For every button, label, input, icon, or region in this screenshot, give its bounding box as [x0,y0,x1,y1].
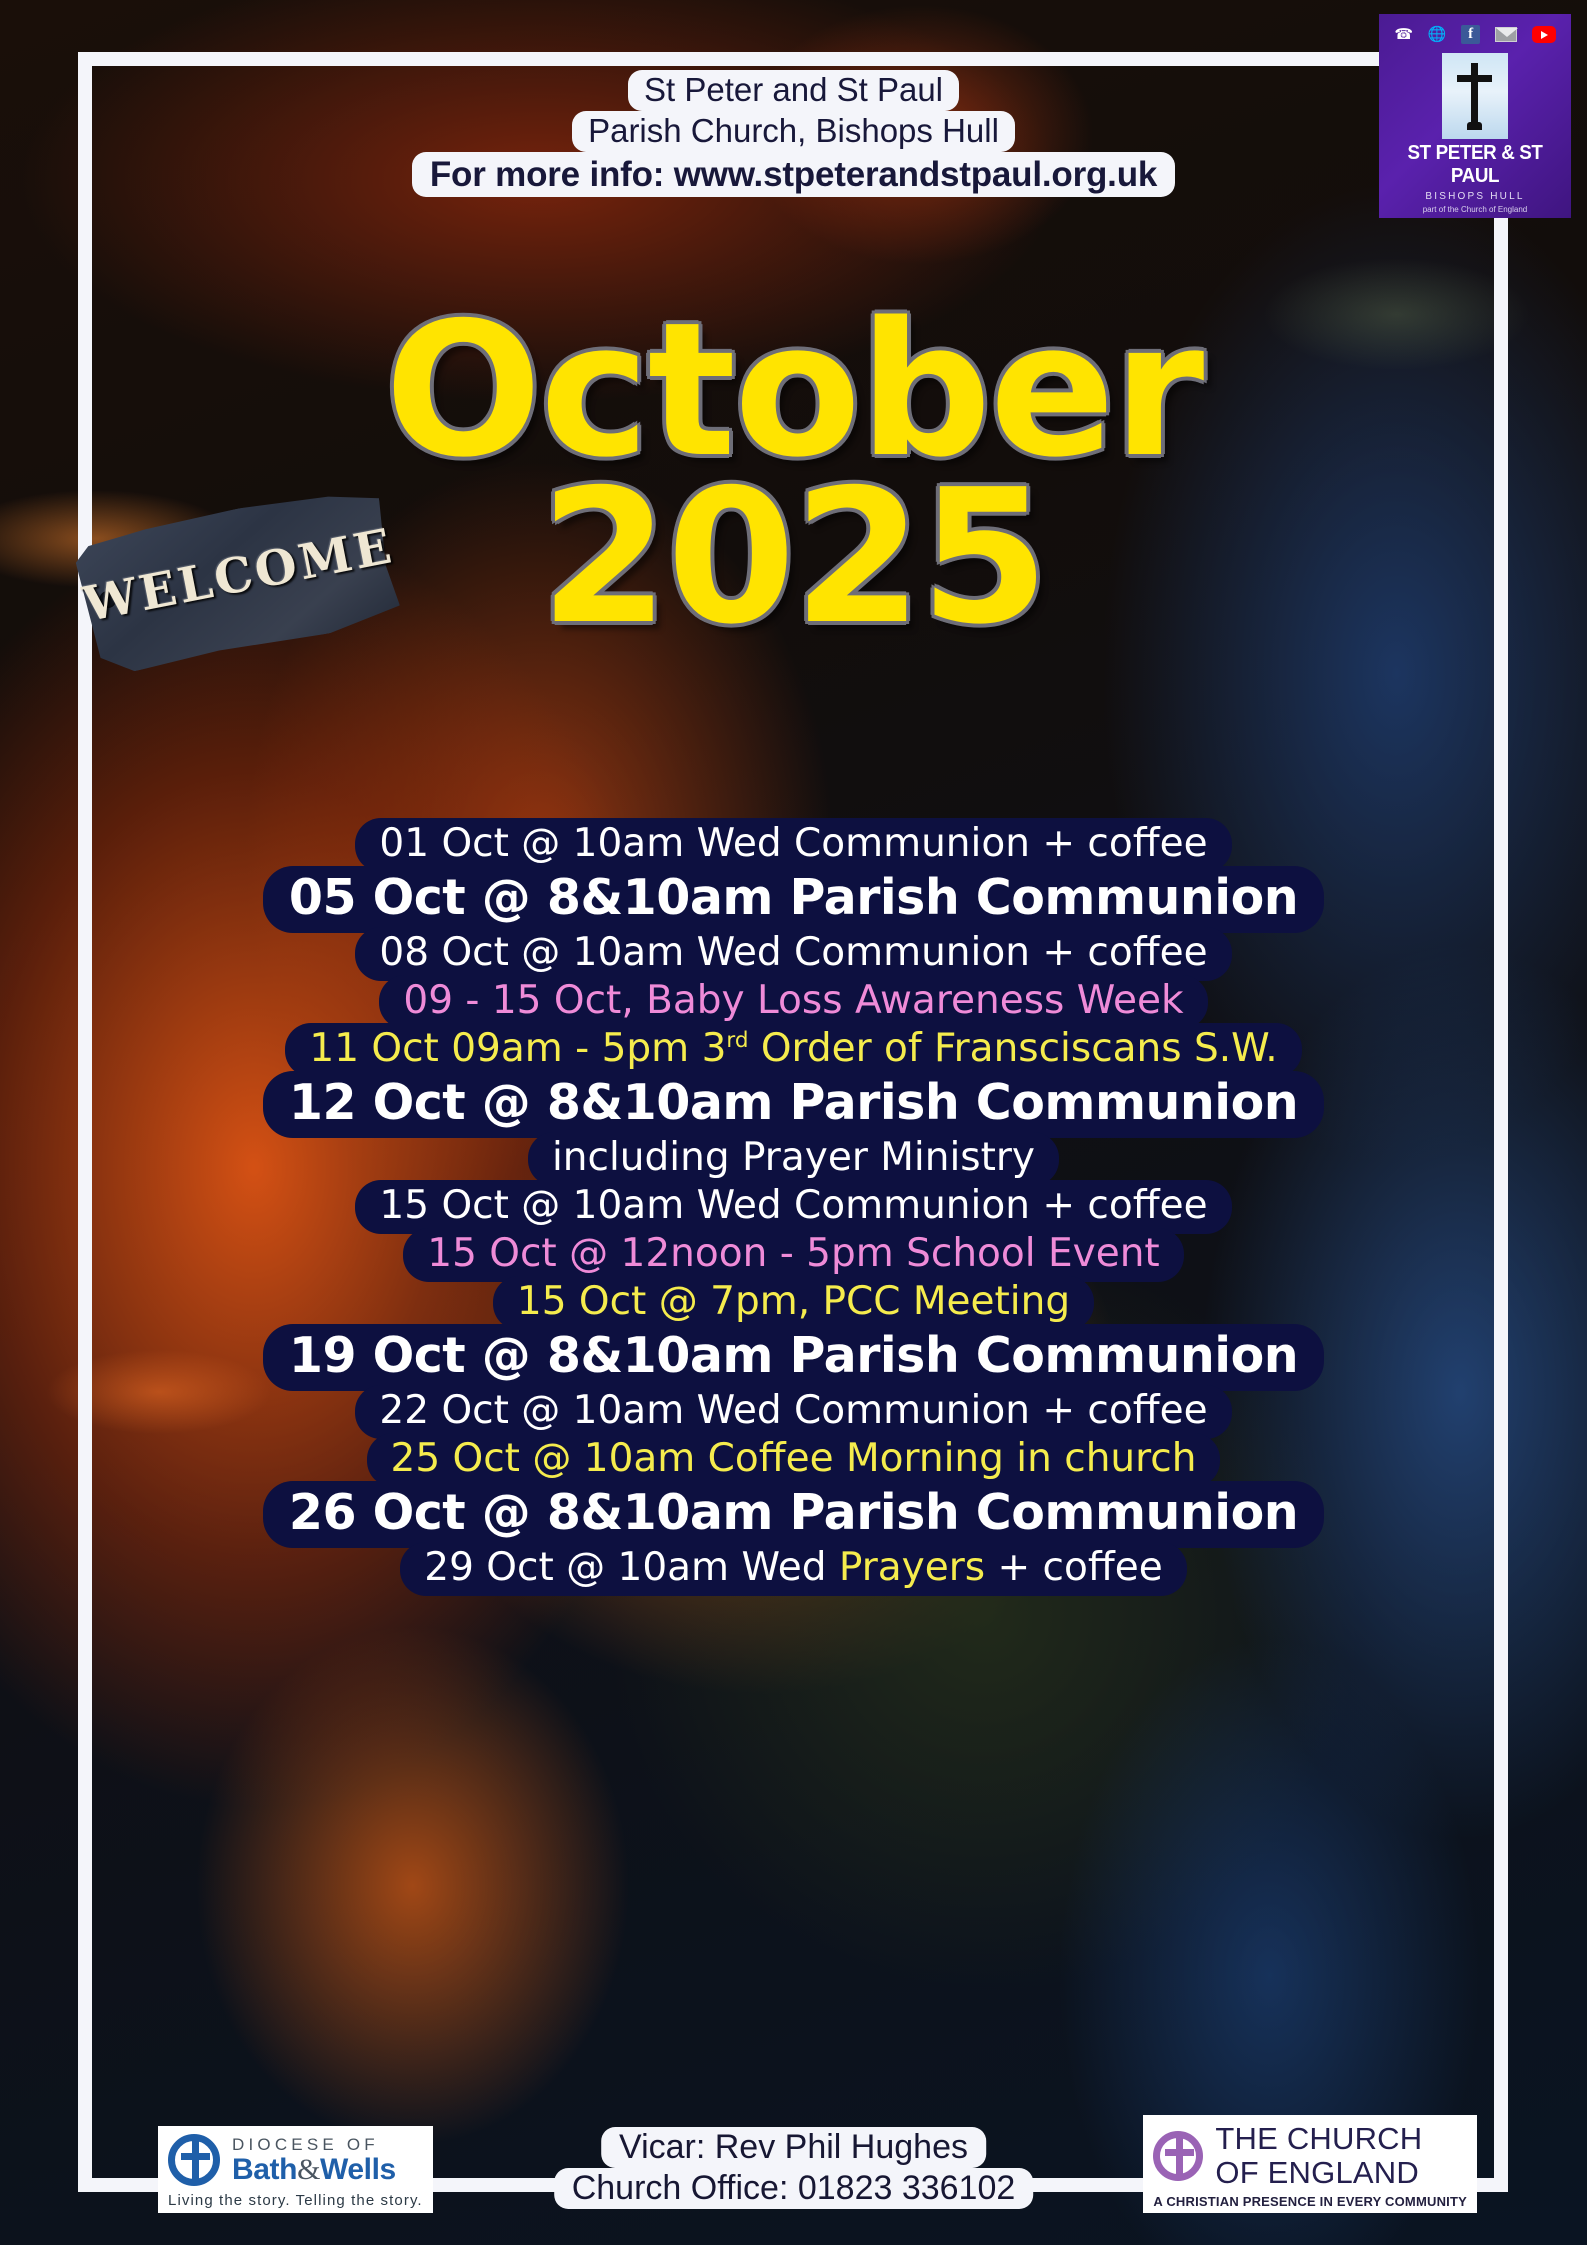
logo-social-icon-row: ☎ 🌐 f [1379,20,1571,48]
event-pill: 26 Oct @ 8&10am Parish Communion [263,1481,1324,1548]
event-text: 15 Oct @ 10am Wed Communion + coffee [379,1186,1207,1225]
event-pill: 25 Oct @ 10am Coffee Morning in church [367,1433,1221,1487]
event-text: 19 Oct @ 8&10am Parish Communion [289,1331,1298,1380]
coe-line1: THE CHURCH [1215,2123,1422,2154]
ordinal-suffix: rd [726,1028,748,1053]
parish-logo-card[interactable]: ☎ 🌐 f ST PETER & ST PAUL BISHOPS HULL pa… [1379,14,1571,218]
event-row: 08 Oct @ 10am Wed Communion + coffee [78,927,1509,981]
event-row: 29 Oct @ 10am Wed Prayers + coffee [78,1542,1509,1596]
event-row: 22 Oct @ 10am Wed Communion + coffee [78,1385,1509,1439]
event-row: 15 Oct @ 10am Wed Communion + coffee [78,1180,1509,1234]
event-row: 05 Oct @ 8&10am Parish Communion [78,866,1509,933]
event-row: 01 Oct @ 10am Wed Communion + coffee [78,818,1509,872]
diocese-bath-and-wells-logo[interactable]: DIOCESE OF Bath&Wells Living the story. … [158,2126,433,2213]
event-row: 25 Oct @ 10am Coffee Morning in church [78,1433,1509,1487]
website-info-line[interactable]: For more info: www.stpeterandstpaul.org.… [412,152,1175,197]
logo-title: ST PETER & ST PAUL [1385,142,1565,188]
church-name-line2: Parish Church, Bishops Hull [572,111,1015,152]
church-office-line: Church Office: 01823 336102 [554,2168,1034,2209]
youtube-icon[interactable] [1532,26,1556,43]
coe-line2: OF ENGLAND [1215,2157,1422,2188]
event-text: 15 Oct @ 7pm, PCC Meeting [517,1282,1070,1321]
poster-footer: DIOCESE OF Bath&Wells Living the story. … [0,2055,1587,2245]
contact-block: Vicar: Rev Phil Hughes Church Office: 01… [554,2127,1034,2209]
event-pill: 05 Oct @ 8&10am Parish Communion [263,866,1324,933]
event-row: 15 Oct @ 7pm, PCC Meeting [78,1276,1509,1330]
event-pill: including Prayer Ministry [528,1132,1059,1186]
event-row: 09 - 15 Oct, Baby Loss Awareness Week [78,975,1509,1029]
event-text: 12 Oct @ 8&10am Parish Communion [289,1078,1298,1127]
event-text: 05 Oct @ 8&10am Parish Communion [289,873,1298,922]
logo-subtitle: BISHOPS HULL [1379,191,1571,202]
diocese-line2: Bath&Wells [232,2155,396,2185]
event-text: 01 Oct @ 10am Wed Communion + coffee [379,824,1207,863]
event-text: 08 Oct @ 10am Wed Communion + coffee [379,933,1207,972]
event-row: 12 Oct @ 8&10am Parish Communion [78,1071,1509,1138]
event-row: including Prayer Ministry [78,1132,1509,1186]
highlighted-word: Prayers [839,1545,985,1590]
diocese-line1: DIOCESE OF [232,2136,396,2153]
event-pill: 12 Oct @ 8&10am Parish Communion [263,1071,1324,1138]
event-pill: 15 Oct @ 7pm, PCC Meeting [493,1276,1094,1330]
event-row: 15 Oct @ 12noon - 5pm School Event [78,1228,1509,1282]
phone-icon[interactable]: ☎ [1394,27,1413,42]
logo-tagline: part of the Church of England [1379,205,1571,214]
event-text: 11 Oct 09am - 5pm 3rd Order of Franscisc… [309,1029,1277,1068]
event-text: 25 Oct @ 10am Coffee Morning in church [391,1439,1197,1478]
globe-icon[interactable]: 🌐 [1428,27,1447,42]
cross-photo-icon [1442,53,1508,139]
event-row: 11 Oct 09am - 5pm 3rd Order of Franscisc… [78,1023,1509,1077]
event-text: 15 Oct @ 12noon - 5pm School Event [427,1234,1159,1273]
diocese-wells: Wells [320,2153,396,2186]
church-of-england-cross-icon [1153,2131,1203,2181]
event-list: 01 Oct @ 10am Wed Communion + coffee05 O… [78,818,1509,1596]
event-text: 26 Oct @ 8&10am Parish Communion [289,1488,1298,1537]
event-pill: 19 Oct @ 8&10am Parish Communion [263,1324,1324,1391]
diocese-tagline: Living the story. Telling the story. [168,2192,423,2209]
event-pill: 01 Oct @ 10am Wed Communion + coffee [355,818,1231,872]
event-pill: 29 Oct @ 10am Wed Prayers + coffee [400,1542,1186,1596]
diocese-bath: Bath [232,2153,297,2186]
church-of-england-logo[interactable]: THE CHURCH OF ENGLAND A CHRISTIAN PRESEN… [1143,2115,1477,2213]
event-text: 29 Oct @ 10am Wed Prayers + coffee [424,1548,1162,1587]
event-pill: 11 Oct 09am - 5pm 3rd Order of Franscisc… [285,1023,1301,1077]
email-icon[interactable] [1495,27,1517,42]
diocese-cross-icon [168,2134,220,2186]
event-pill: 15 Oct @ 10am Wed Communion + coffee [355,1180,1231,1234]
october-2025-church-poster: St Peter and St Paul Parish Church, Bish… [0,0,1587,2245]
event-text: including Prayer Ministry [552,1138,1035,1177]
event-pill: 09 - 15 Oct, Baby Loss Awareness Week [379,975,1207,1029]
event-pill: 22 Oct @ 10am Wed Communion + coffee [355,1385,1231,1439]
event-pill: 08 Oct @ 10am Wed Communion + coffee [355,927,1231,981]
event-pill: 15 Oct @ 12noon - 5pm School Event [403,1228,1183,1282]
coe-tagline: A CHRISTIAN PRESENCE IN EVERY COMMUNITY [1153,2194,1467,2209]
header-text-block: St Peter and St Paul Parish Church, Bish… [0,70,1587,197]
event-row: 26 Oct @ 8&10am Parish Communion [78,1481,1509,1548]
event-text: 09 - 15 Oct, Baby Loss Awareness Week [403,981,1183,1020]
facebook-icon[interactable]: f [1461,25,1480,44]
diocese-ampersand: & [297,2153,320,2186]
vicar-line: Vicar: Rev Phil Hughes [601,2127,986,2168]
event-text: 22 Oct @ 10am Wed Communion + coffee [379,1391,1207,1430]
church-name-line1: St Peter and St Paul [628,70,959,111]
event-row: 19 Oct @ 8&10am Parish Communion [78,1324,1509,1391]
